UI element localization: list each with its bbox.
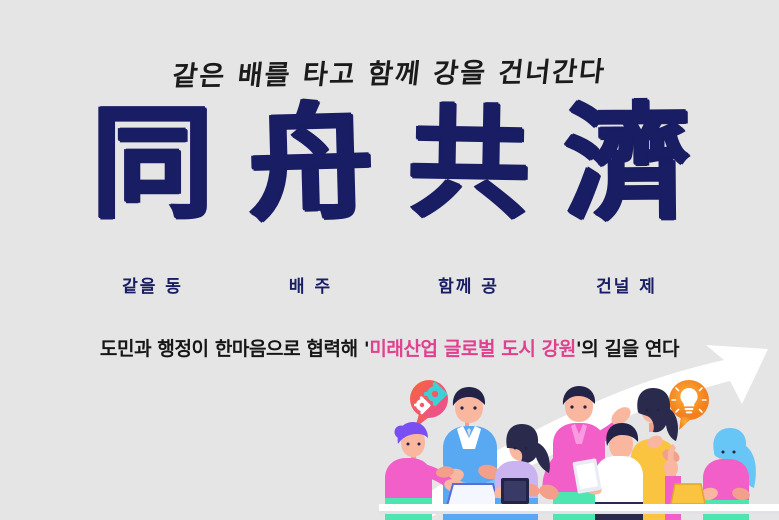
tagline-before: 도민과 행정이 한마음으로 협력해 ' [100,338,369,360]
hanja-char-3: 共 [398,101,539,224]
hanja-gloss-2: 배 주 [241,272,381,297]
hanja-char-4: 濟 [554,100,699,227]
gears-bubble [410,380,448,428]
hanja-calligraphy-row: 同 舟 共 濟 [0,102,779,224]
meeting-illustration [379,372,779,520]
notebook-yellow [671,484,705,504]
tagline-highlight: 미래산업 글로벌 도시 강원 [369,338,576,360]
hanja-gloss-3: 함께 공 [399,272,539,297]
tagline-after: '의 길을 연다 [576,338,679,360]
hanja-char-1: 同 [83,102,223,224]
poster-canvas: 같은 배를 타고 함께 강을 건너간다 同 舟 共 濟 같을 동 배 주 함께 … [0,0,779,520]
tablet-left [501,478,529,504]
hanja-gloss-1: 같을 동 [83,272,223,297]
hanja-char-2: 舟 [237,99,383,227]
table-surface [379,504,779,514]
hanja-gloss-row: 같을 동 배 주 함께 공 건널 제 [0,272,779,297]
tagline: 도민과 행정이 한마음으로 협력해 '미래산업 글로벌 도시 강원'의 길을 연… [0,334,779,361]
hanja-gloss-4: 건널 제 [557,272,697,297]
